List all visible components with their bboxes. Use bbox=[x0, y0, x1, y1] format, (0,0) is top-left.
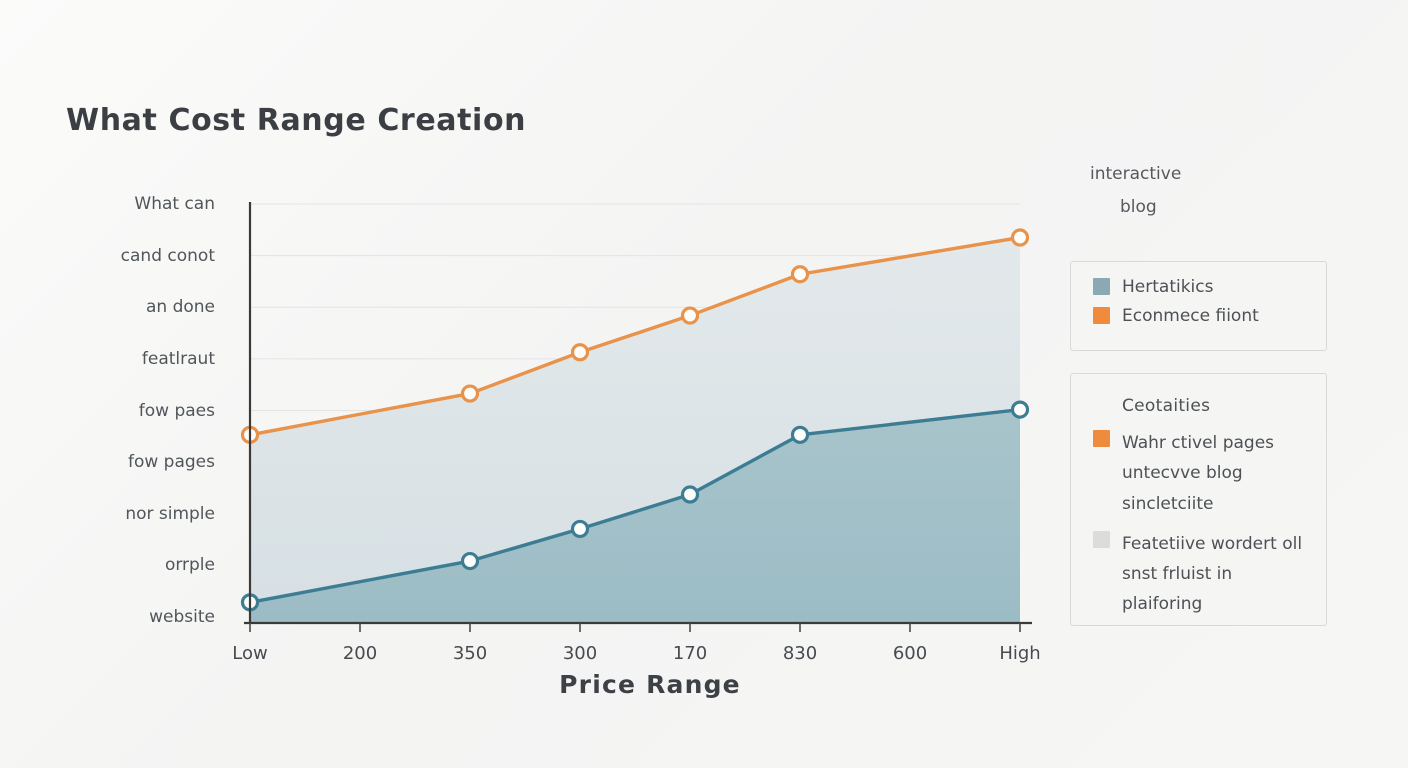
x-axis-tick-label: 300 bbox=[563, 643, 597, 664]
legend-swatch-icon bbox=[1093, 531, 1110, 548]
legend-note-label: Wahr ctivel pages untecvve blog sincletc… bbox=[1122, 428, 1312, 519]
x-axis-title: Price Range bbox=[559, 670, 741, 699]
x-axis-tick-label: 200 bbox=[343, 643, 377, 664]
legend-item-label: Hertatikics bbox=[1122, 276, 1213, 299]
legend-swatch-icon bbox=[1093, 278, 1110, 295]
x-axis-tick-label: 830 bbox=[783, 643, 817, 664]
legend-note-label: Featetiive wordert oll snst frluist in p… bbox=[1122, 529, 1312, 620]
annotation-line-1: interactive bbox=[1090, 158, 1320, 191]
legend-item-label: Econmece fiiont bbox=[1122, 305, 1259, 328]
x-axis-tick-label: 170 bbox=[673, 643, 707, 664]
legend-swatch-icon bbox=[1093, 307, 1110, 324]
annotation-line-2: blog bbox=[1090, 191, 1320, 224]
chart-canvas: What Cost Range Creation What cancand co… bbox=[0, 0, 1408, 768]
legend-note-item[interactable]: Wahr ctivel pages untecvve blog sincletc… bbox=[1093, 428, 1312, 519]
x-axis-tick-label: Low bbox=[232, 643, 267, 664]
series-legend[interactable]: HertatikicsEconmece fiiont bbox=[1070, 261, 1327, 351]
legend-note-item[interactable]: Featetiive wordert oll snst frluist in p… bbox=[1093, 529, 1312, 620]
legend-swatch-icon bbox=[1093, 430, 1110, 447]
notes-legend-title: Ceotaities bbox=[1122, 396, 1312, 416]
x-axis-tick-label: 600 bbox=[893, 643, 927, 664]
chart-annotation: interactive blog bbox=[1090, 158, 1320, 224]
x-axis-tick-label: 350 bbox=[453, 643, 487, 664]
notes-legend[interactable]: Ceotaities Wahr ctivel pages untecvve bl… bbox=[1070, 373, 1327, 626]
notes-legend-items: Wahr ctivel pages untecvve blog sincletc… bbox=[1093, 428, 1312, 620]
legend-item[interactable]: Hertatikics bbox=[1093, 276, 1326, 299]
legend-item[interactable]: Econmece fiiont bbox=[1093, 305, 1326, 328]
x-axis-tick-label: High bbox=[999, 643, 1040, 664]
